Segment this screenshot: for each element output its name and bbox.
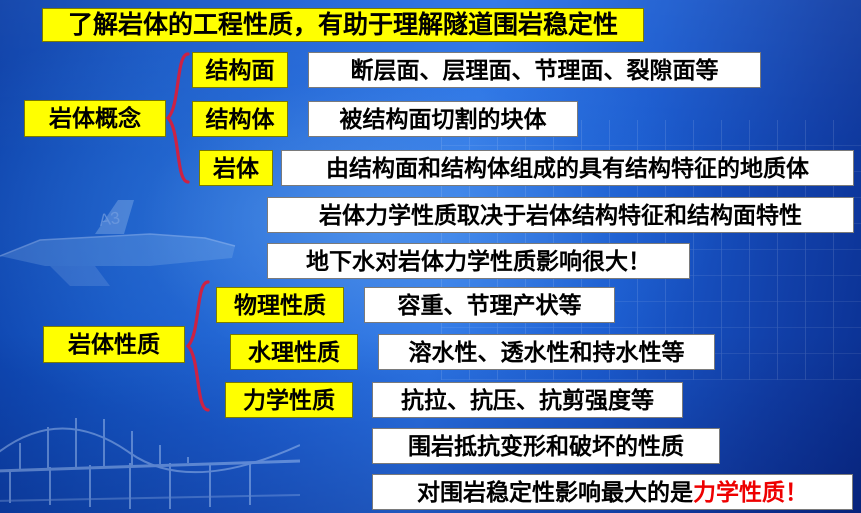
conclusion-suffix: ！ (785, 481, 808, 504)
brace-concept (166, 50, 192, 186)
desc-structural-body: 被结构面切割的块体 (308, 101, 578, 137)
note-deformation-resistance: 围岩抵抗变形和破坏的性质 (372, 428, 720, 464)
term-hydraulic-properties: 水理性质 (230, 334, 358, 370)
desc-structural-plane: 断层面、层理面、节理面、裂隙面等 (308, 52, 761, 88)
term-mechanical-properties: 力学性质 (225, 382, 353, 418)
airplane-watermark-icon: A3 (0, 190, 270, 300)
conclusion-highlight: 力学性质 (693, 481, 785, 504)
desc-physical-properties: 容重、节理产状等 (364, 287, 615, 323)
svg-text:A3: A3 (98, 208, 121, 230)
term-rock-mass: 岩体 (199, 150, 273, 186)
group-label-rock-mass-concept: 岩体概念 (24, 100, 166, 137)
desc-rock-mass: 由结构面和结构体组成的具有结构特征的地质体 (281, 150, 854, 186)
term-structural-body: 结构体 (192, 101, 288, 137)
slide-title: 了解岩体的工程性质，有助于理解隧道围岩稳定性 (42, 8, 644, 42)
note-groundwater: 地下水对岩体力学性质影响很大！ (267, 243, 690, 279)
slide-canvas: A3 了解岩体的工程性质，有助于理解隧道围岩稳定性 岩体概念 结构面 断层面、层… (0, 0, 861, 513)
conclusion-prefix: 对围岩稳定性影响最大的是 (417, 481, 693, 504)
group-label-rock-mass-properties: 岩体性质 (43, 326, 185, 363)
term-physical-properties: 物理性质 (216, 287, 344, 323)
term-structural-plane: 结构面 (192, 52, 288, 88)
brace-properties (186, 278, 212, 414)
note-mechanical-properties: 岩体力学性质取决于岩体结构特征和结构面特性 (267, 197, 854, 233)
desc-mechanical-properties: 抗拉、抗压、抗剪强度等 (372, 382, 683, 418)
conclusion-line: 对围岩稳定性影响最大的是力学性质！ (372, 474, 853, 510)
desc-hydraulic-properties: 溶水性、透水性和持水性等 (378, 334, 715, 370)
